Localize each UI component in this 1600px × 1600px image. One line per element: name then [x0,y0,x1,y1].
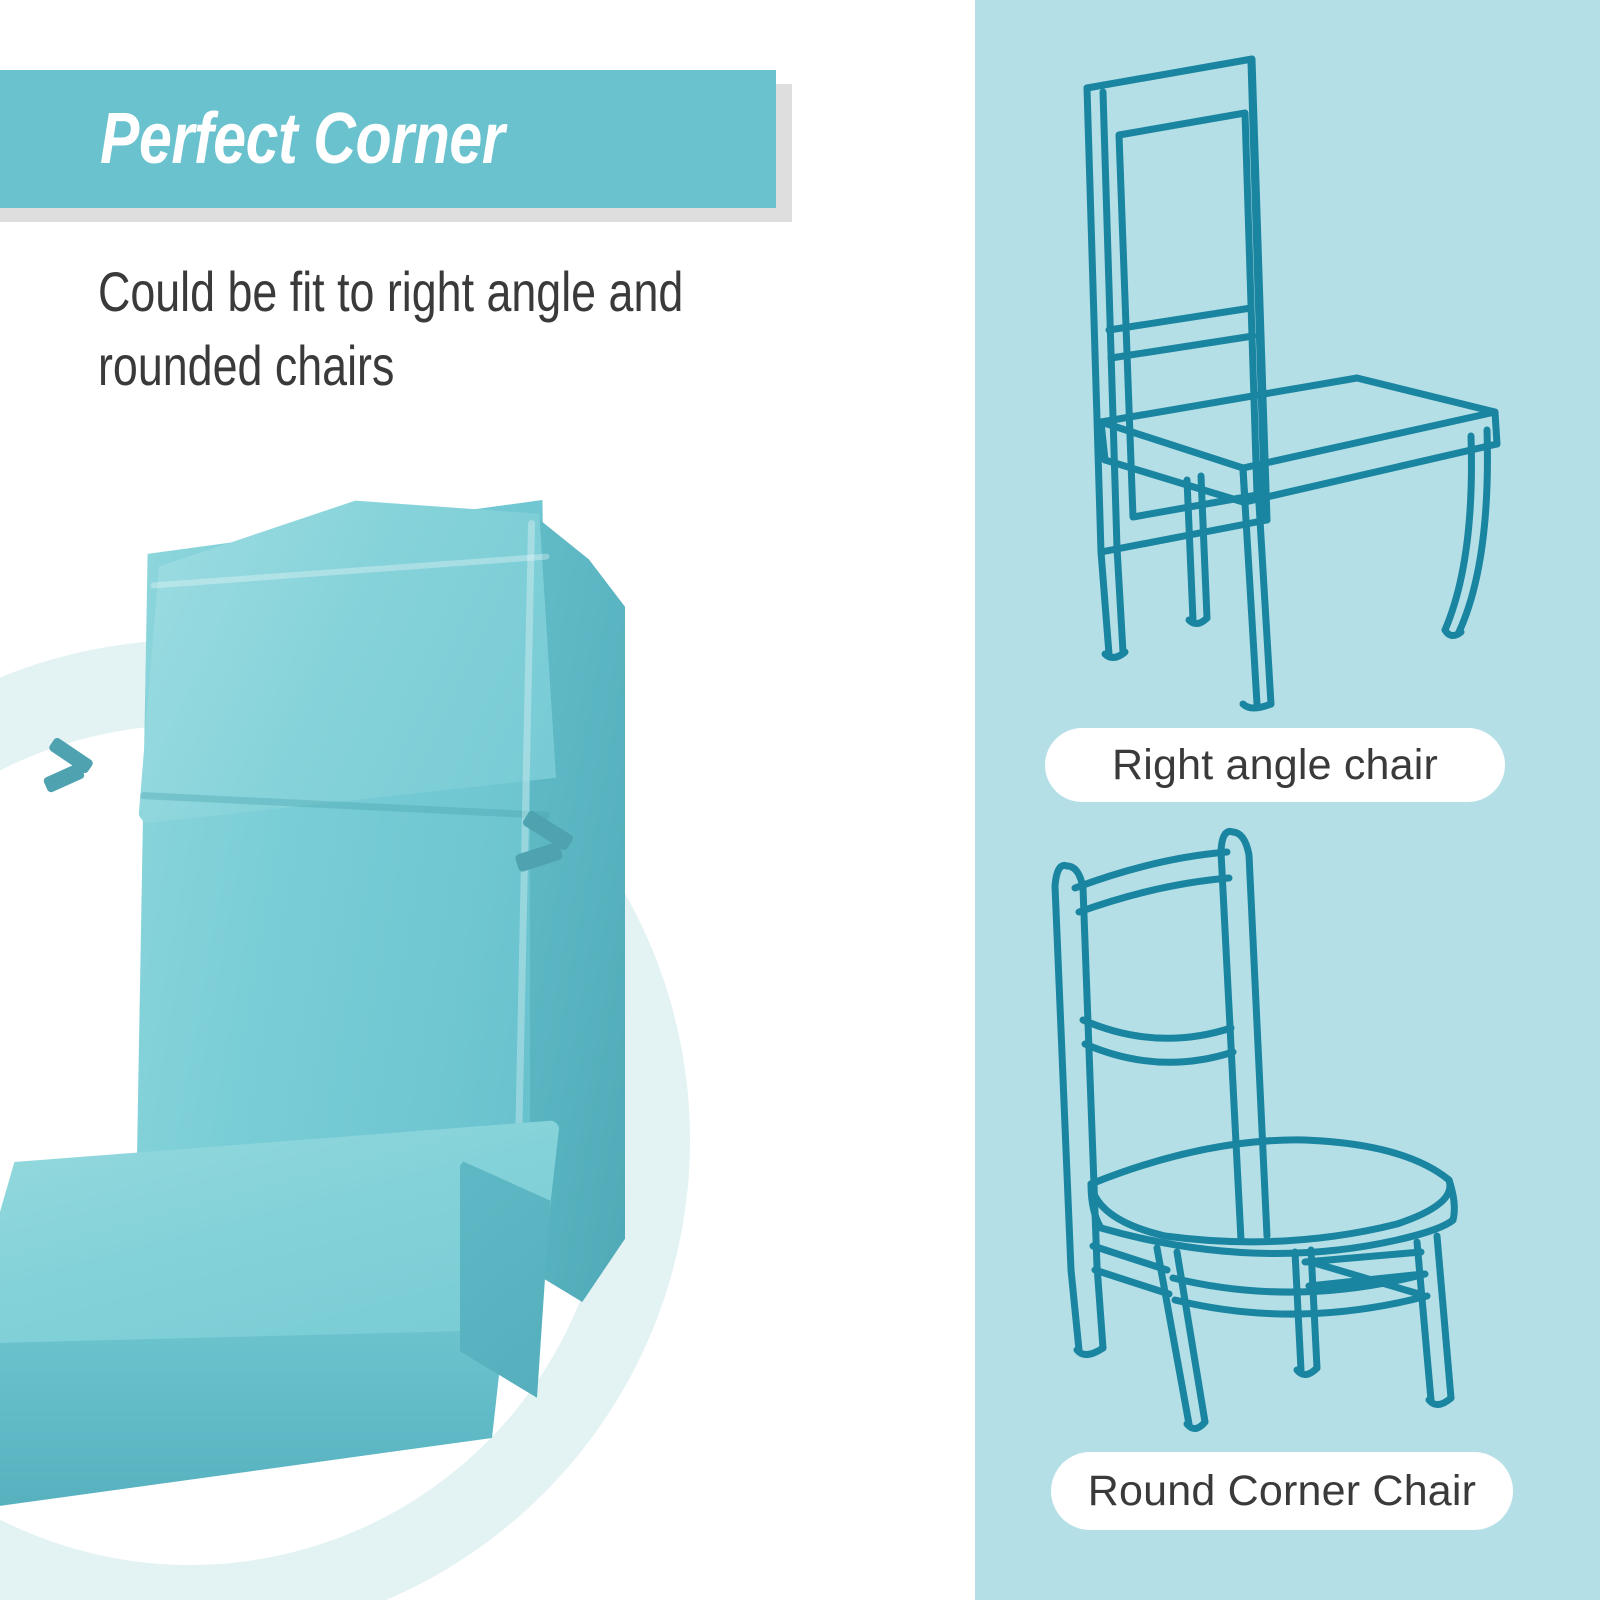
title-banner: Perfect Corner [0,70,776,208]
cushion-tie-left-tail [42,763,85,794]
round-corner-chair-illustration [1005,800,1565,1440]
label-round-corner-chair-text: Round Corner Chair [1088,1467,1476,1516]
label-right-angle-chair: Right angle chair [1045,728,1505,802]
label-right-angle-chair-text: Right angle chair [1112,741,1438,790]
infographic-root: Perfect Corner Could be fit to right ang… [0,0,1600,1600]
label-round-corner-chair: Round Corner Chair [1051,1452,1513,1530]
left-panel: Perfect Corner Could be fit to right ang… [0,0,975,1600]
cushion-headrest [138,494,556,824]
right-angle-chair-illustration [1005,40,1565,730]
right-panel: Right angle chair [975,0,1600,1600]
banner-title: Perfect Corner [100,103,504,175]
product-photo-cushion [0,470,700,1480]
subtitle-text: Could be fit to right angle and rounded … [98,255,778,403]
